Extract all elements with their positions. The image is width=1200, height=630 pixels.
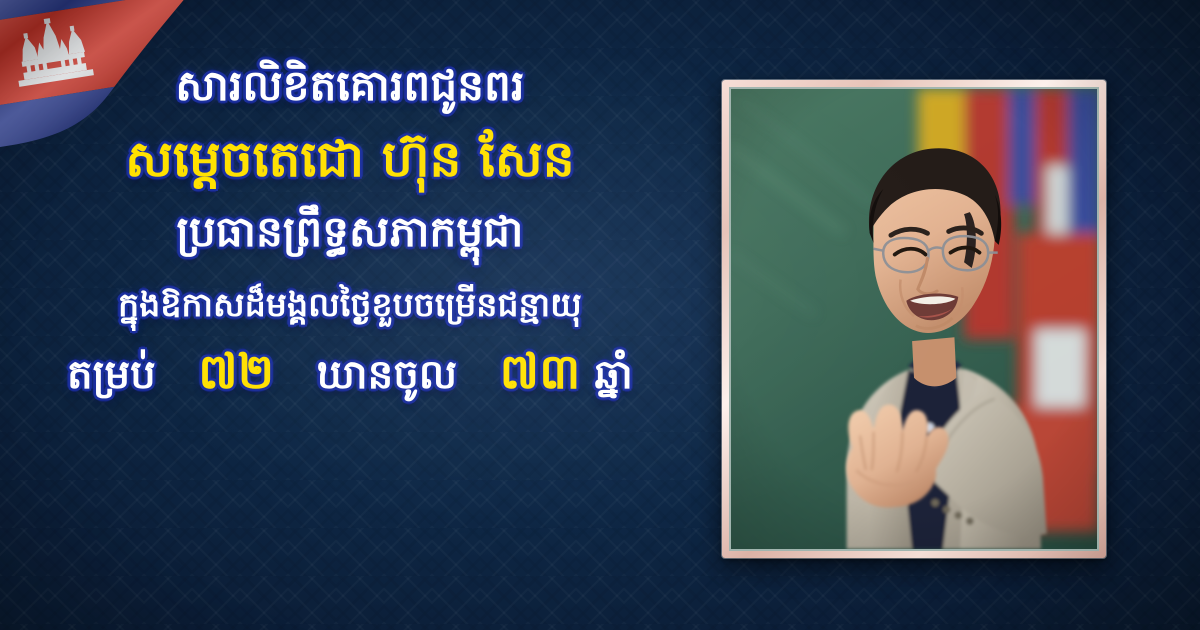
- age-middle-label: ឃានចូល: [317, 352, 457, 398]
- age-prefix-label: តម្រប់: [67, 352, 156, 398]
- greeting-line-4-occasion: ក្នុងឱកាសដ៏មង្គលថ្ងៃខួបចម្រើនជន្មាយុ: [0, 288, 700, 323]
- age-suffix-label: ឆ្នាំ: [595, 352, 633, 398]
- age-current-value: ៧២: [198, 344, 274, 400]
- message-text-block: សារលិខិតគោរពជូនពរ សម្តេចតេជោ ហ៊ុន សែន ប្…: [0, 0, 700, 630]
- greeting-line-2-name: សម្តេចតេជោ ហ៊ុន សែន: [0, 133, 700, 186]
- greeting-line-5-age: តម្រប់ ៧២ ឃានចូល ៧៣ ឆ្នាំ: [0, 347, 700, 398]
- portrait-image: [729, 87, 1099, 551]
- greeting-banner: សារលិខិតគោរពជូនពរ សម្តេចតេជោ ហ៊ុន សែន ប្…: [0, 0, 1200, 630]
- portrait-canvas: [731, 89, 1097, 549]
- portrait-frame: [722, 80, 1106, 558]
- greeting-line-1: សារលិខិតគោរពជូនពរ: [0, 64, 700, 109]
- greeting-line-3-title: ប្រធានព្រឹទ្ធសភាកម្ពុជា: [0, 210, 700, 255]
- age-next-value: ៧៣: [500, 344, 581, 400]
